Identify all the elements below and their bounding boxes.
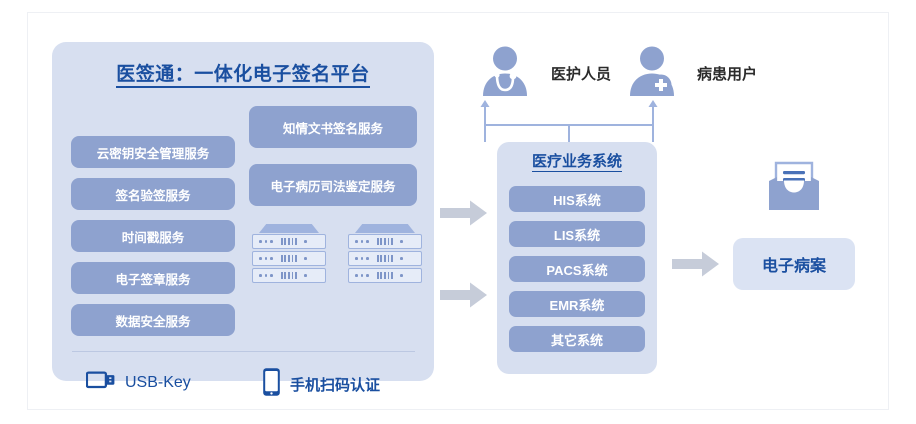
service-pill-cloud-key[interactable]: 云密钥安全管理服务 [71,136,235,168]
diagram-root: 医签通：一体化电子签名平台 云密钥安全管理服务 签名验签服务 时间戳服务 电子签… [0,0,916,424]
archive-inbox-icon [763,155,825,222]
platform-panel: 医签通：一体化电子签名平台 云密钥安全管理服务 签名验签服务 时间戳服务 电子签… [52,42,434,381]
platform-to-systems-arrow-upper [440,200,488,226]
service-pill-forensic-emr[interactable]: 电子病历司法鉴定服务 [249,164,417,206]
system-item-emr[interactable]: EMR系统 [509,291,645,317]
system-item-pacs[interactable]: PACS系统 [509,256,645,282]
systems-panel: 医疗业务系统 HIS系统 LIS系统 PACS系统 EMR系统 其它系统 [497,142,657,374]
server-rack-icon-2 [348,224,422,286]
systems-to-record-arrow [672,251,720,277]
doctor-icon [478,45,532,102]
electronic-record-box[interactable]: 电子病案 [733,238,855,290]
system-item-his[interactable]: HIS系统 [509,186,645,212]
platform-to-systems-arrow-lower [440,282,488,308]
patient-icon [625,45,679,102]
system-item-other[interactable]: 其它系统 [509,326,645,352]
auth-methods-row: USB-Key 手机扫码认证 [72,365,415,407]
platform-title-text: 医签通：一体化电子签名平台 [116,64,370,88]
server-rack-group [252,224,422,286]
service-pill-timestamp[interactable]: 时间戳服务 [71,220,235,252]
service-pill-e-seal[interactable]: 电子签章服务 [71,262,235,294]
usb-key-icon [86,370,116,395]
mobile-phone-icon [262,367,281,402]
service-pill-informed-consent[interactable]: 知情文书签名服务 [249,106,417,148]
systems-panel-title-text: 医疗业务系统 [532,153,622,172]
auth-method-usb-key-label: USB-Key [125,374,191,392]
system-item-lis[interactable]: LIS系统 [509,221,645,247]
auth-method-mobile-scan-label: 手机扫码认证 [290,374,380,395]
electronic-record-label: 电子病案 [762,252,826,276]
patient-label: 病患用户 [697,63,757,84]
service-pill-sign-verify[interactable]: 签名验签服务 [71,178,235,210]
auth-method-mobile-scan[interactable]: 手机扫码认证 [262,367,380,402]
platform-title: 医签通：一体化电子签名平台 [52,59,434,86]
systems-panel-title: 医疗业务系统 [497,150,657,171]
auth-method-usb-key[interactable]: USB-Key [86,370,191,395]
server-rack-icon [252,224,326,286]
doctor-label: 医护人员 [551,63,611,84]
platform-divider [72,351,415,352]
service-pill-data-security[interactable]: 数据安全服务 [71,304,235,336]
